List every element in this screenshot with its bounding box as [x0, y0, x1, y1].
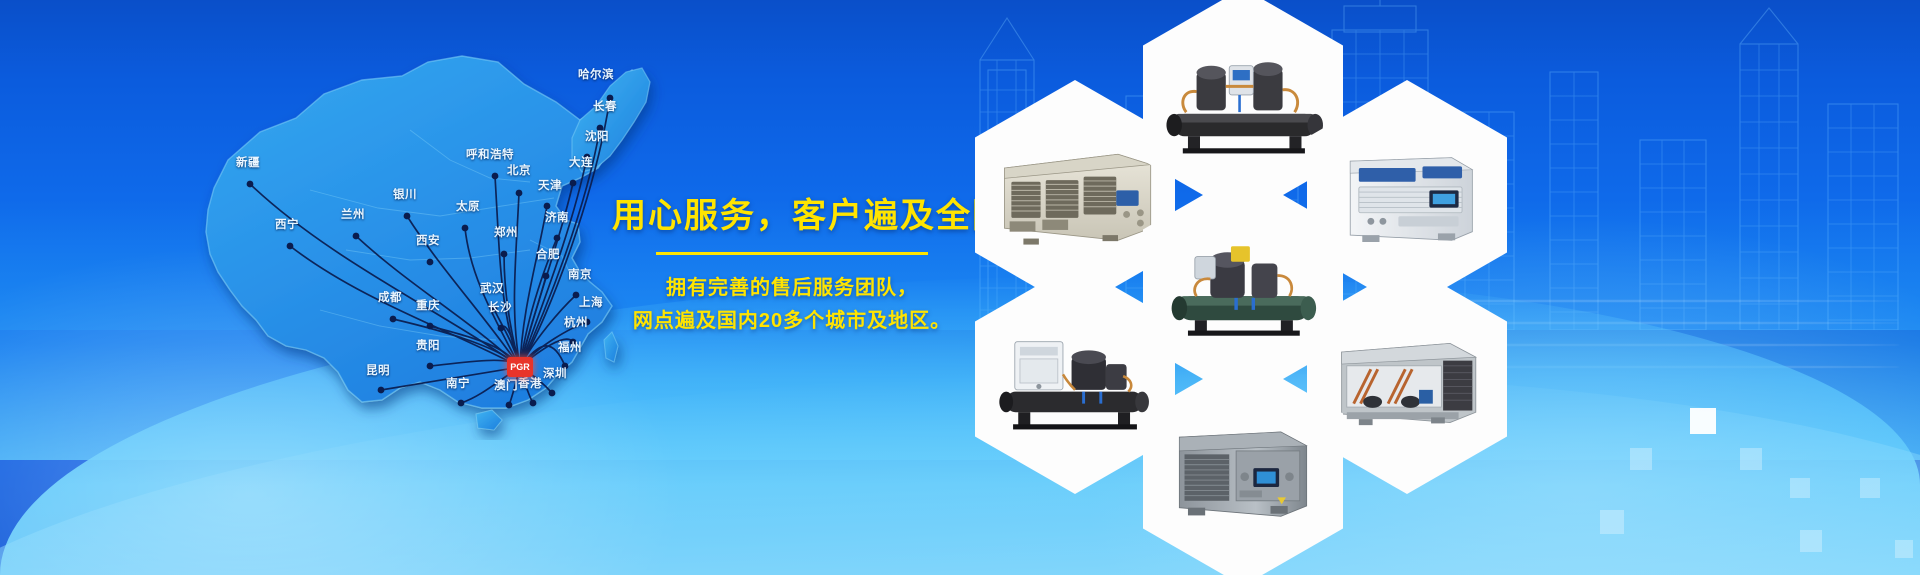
- city-label-西安: 西安: [416, 232, 440, 248]
- city-dot[interactable]: [498, 325, 505, 332]
- city-dot[interactable]: [516, 190, 523, 197]
- decor-square: [1630, 448, 1652, 470]
- product-image-water-cooled-screw-chiller: [1157, 13, 1329, 192]
- city-label-杭州: 杭州: [564, 314, 588, 330]
- banner-subtitle: 拥有完善的售后服务团队， 网点遍及国内20多个城市及地区。: [612, 272, 972, 337]
- product-image-cabinet-chiller-unit: [1157, 381, 1329, 560]
- city-dot[interactable]: [427, 259, 434, 266]
- city-label-北京: 北京: [507, 162, 531, 178]
- city-label-上海: 上海: [579, 294, 603, 310]
- city-dot[interactable]: [458, 400, 465, 407]
- decor-square: [1690, 408, 1716, 434]
- city-label-新疆: 新疆: [236, 154, 260, 170]
- city-dot[interactable]: [247, 181, 254, 188]
- city-dot[interactable]: [501, 251, 508, 258]
- city-label-长春: 长春: [593, 98, 617, 114]
- city-dot[interactable]: [492, 173, 499, 180]
- product-image-condensing-compressor-unit: [989, 289, 1161, 468]
- city-label-长沙: 长沙: [488, 299, 512, 315]
- city-label-沈阳: 沈阳: [585, 128, 609, 144]
- headline-divider: [656, 252, 928, 255]
- product-image-air-cooled-box-chiller: [989, 105, 1161, 284]
- city-dot[interactable]: [570, 180, 577, 187]
- product-image-screw-compressor-unit: [1157, 197, 1329, 376]
- banner-subtitle-line1: 拥有完善的售后服务团队，: [612, 272, 972, 304]
- decor-square: [1895, 540, 1913, 558]
- city-label-重庆: 重庆: [416, 297, 440, 313]
- city-dot[interactable]: [554, 235, 561, 242]
- city-label-西宁: 西宁: [275, 216, 299, 232]
- product-hexagon-grid: [955, 0, 1515, 575]
- city-label-济南: 济南: [545, 209, 569, 225]
- city-label-大连: 大连: [569, 154, 593, 170]
- city-label-深圳: 深圳: [543, 365, 567, 381]
- city-label-呼和浩特: 呼和浩特: [466, 146, 514, 162]
- city-label-银川: 银川: [393, 186, 417, 202]
- city-dot[interactable]: [530, 400, 537, 407]
- city-dot[interactable]: [353, 233, 360, 240]
- city-label-郑州: 郑州: [494, 224, 518, 240]
- city-label-哈尔滨: 哈尔滨: [578, 66, 614, 82]
- city-label-南京: 南京: [568, 266, 592, 282]
- city-label-武汉: 武汉: [480, 280, 504, 296]
- city-label-昆明: 昆明: [366, 362, 390, 378]
- city-dot[interactable]: [287, 243, 294, 250]
- city-label-兰州: 兰州: [341, 206, 365, 222]
- city-label-天津: 天津: [538, 177, 562, 193]
- decor-square: [1860, 478, 1880, 498]
- city-label-成都: 成都: [378, 289, 402, 305]
- city-dot[interactable]: [549, 390, 556, 397]
- city-label-香港: 香港: [518, 375, 542, 391]
- city-dot[interactable]: [404, 213, 411, 220]
- city-label-贵阳: 贵阳: [416, 337, 440, 353]
- city-label-太原: 太原: [456, 198, 480, 214]
- city-label-南宁: 南宁: [446, 375, 470, 391]
- product-image-industrial-water-chiller-box: [1321, 105, 1493, 284]
- service-network-banner: 哈尔滨长春沈阳大连呼和浩特北京天津银川太原新疆兰州西宁西安郑州济南合肥南京武汉重…: [0, 0, 1920, 575]
- banner-copy: 用心服务，客户遍及全国 拥有完善的售后服务团队， 网点遍及国内20多个城市及地区…: [612, 196, 972, 337]
- city-label-澳门: 澳门: [494, 377, 518, 393]
- hub-marker-shenzhen[interactable]: PGR: [507, 357, 533, 377]
- city-dot[interactable]: [506, 402, 513, 409]
- banner-headline: 用心服务，客户遍及全国: [612, 196, 972, 236]
- city-dot[interactable]: [462, 225, 469, 232]
- city-dot[interactable]: [543, 273, 550, 280]
- decor-square: [1740, 448, 1762, 470]
- hub-marker-label: PGR: [510, 362, 530, 372]
- decor-square: [1600, 510, 1624, 534]
- product-image-open-frame-screw-chiller: [1321, 289, 1493, 468]
- decor-square: [1800, 530, 1822, 552]
- city-dot[interactable]: [427, 363, 434, 370]
- banner-subtitle-line2: 网点遍及国内20多个城市及地区。: [612, 305, 972, 337]
- decor-square: [1790, 478, 1810, 498]
- city-dot[interactable]: [390, 316, 397, 323]
- city-label-福州: 福州: [558, 339, 582, 355]
- city-dot[interactable]: [427, 323, 434, 330]
- city-dot[interactable]: [378, 387, 385, 394]
- city-label-合肥: 合肥: [536, 246, 560, 262]
